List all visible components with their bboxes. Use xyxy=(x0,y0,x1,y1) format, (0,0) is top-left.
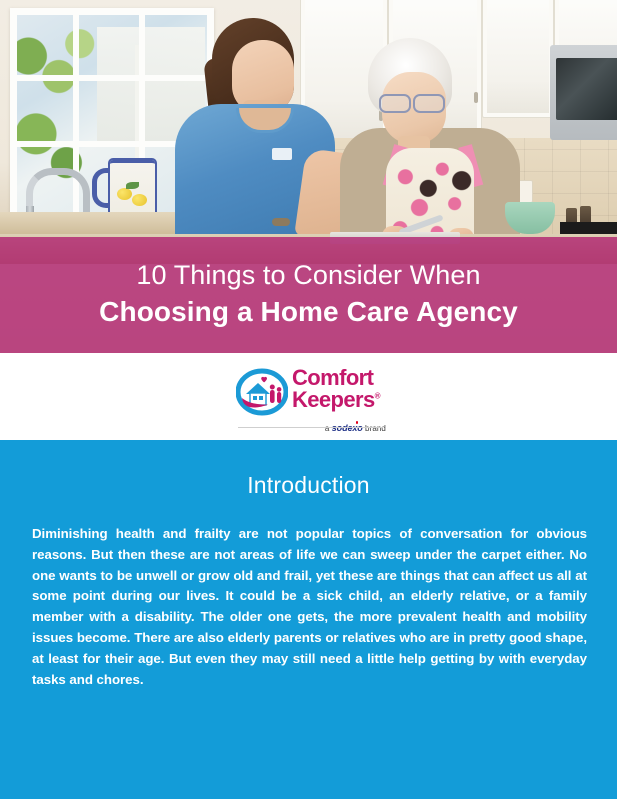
comfort-keepers-house-icon xyxy=(236,368,288,416)
cabinet-door xyxy=(482,0,554,118)
registered-trademark-icon: ® xyxy=(375,391,380,400)
title-line-2: Choosing a Home Care Agency xyxy=(99,295,518,329)
wall-outlet xyxy=(518,180,533,203)
introduction-body-text: Diminishing health and frailty are not p… xyxy=(0,499,617,690)
sodexo-wordmark: sodexo xyxy=(332,423,363,433)
tagline-suffix: brand xyxy=(363,424,386,433)
introduction-section: Introduction Diminishing health and frai… xyxy=(0,440,617,799)
title-line-1: 10 Things to Consider When xyxy=(136,260,480,292)
microwave-window xyxy=(556,58,617,120)
title-banner: 10 Things to Consider When Choosing a Ho… xyxy=(0,237,617,353)
sodexo-brand-tagline: a sodexo brand xyxy=(236,423,386,433)
introduction-heading: Introduction xyxy=(0,440,617,499)
logo-section: Comfort Keepers® a sodexo brand xyxy=(0,353,617,440)
lemon-motif xyxy=(117,188,132,200)
logo-word-comfort: Comfort xyxy=(292,367,380,389)
caregiver-bracelet xyxy=(272,218,290,226)
eyeglass-lens xyxy=(413,94,445,113)
window-sill xyxy=(0,212,200,236)
logo-word-keepers: Keepers® xyxy=(292,389,380,411)
logo-divider xyxy=(238,427,383,428)
cabinet-knob xyxy=(474,92,478,103)
tagline-prefix: a xyxy=(325,424,332,433)
lemon-motif xyxy=(132,194,147,206)
eyeglass-lens xyxy=(379,94,411,113)
caregiver-logo-badge xyxy=(272,148,292,160)
window-mullion xyxy=(17,75,207,81)
leaf-motif xyxy=(126,182,139,189)
senior-eyeglasses xyxy=(379,94,449,109)
comfort-keepers-logo: Comfort Keepers® xyxy=(236,367,386,427)
ebook-cover-page: 10 Things to Consider When Choosing a Ho… xyxy=(0,0,617,799)
hero-photo: 10 Things to Consider When Choosing a Ho… xyxy=(0,0,617,353)
sodexo-accent-dot-icon xyxy=(356,421,359,424)
comfort-keepers-wordmark: Comfort Keepers® xyxy=(292,367,380,410)
